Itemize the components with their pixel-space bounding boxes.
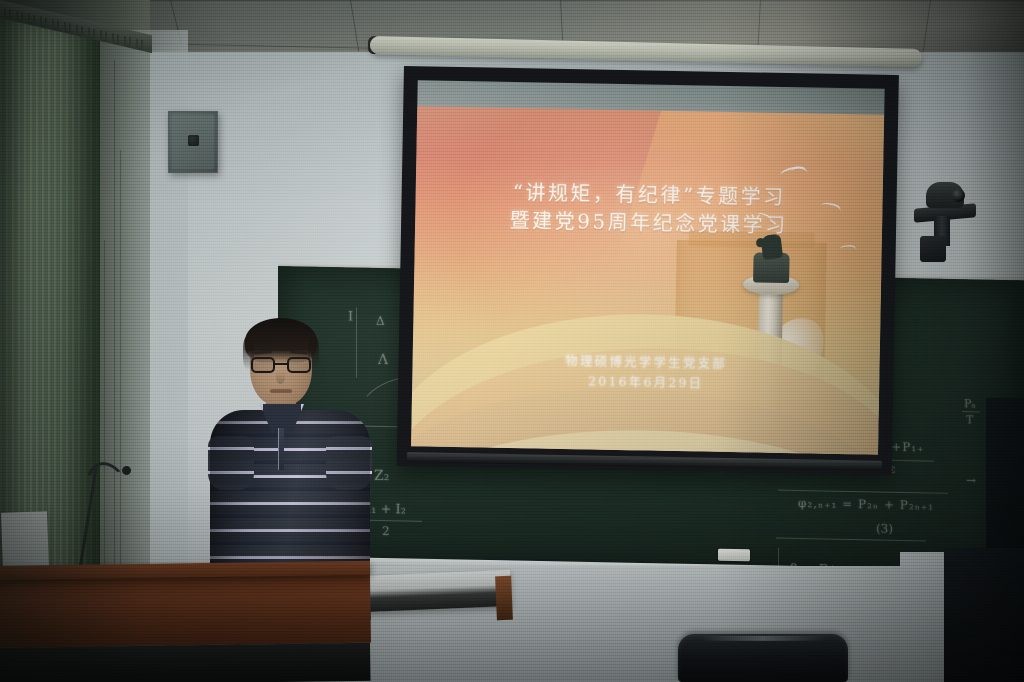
white-paper-object — [1, 511, 49, 573]
right-dark-object — [944, 548, 1024, 682]
wall-cable — [114, 60, 115, 580]
chalk-note: (3) — [876, 521, 893, 535]
podium-shadow — [0, 643, 370, 682]
chalk-note: φ₂,ₙ₊₁ = P₂ₙ + P₂ₙ₊₁ — [798, 496, 934, 513]
nose — [276, 371, 285, 384]
wall-speaker — [168, 111, 218, 173]
chalk-note: Δ — [376, 314, 385, 328]
chalk-note: → — [966, 473, 976, 487]
chalk-note: Pₐ — [964, 397, 976, 410]
chair-highlight — [700, 636, 826, 641]
chalk-note: Z₂ — [374, 468, 389, 484]
equipment-tray — [364, 570, 511, 612]
chalk-note: T — [966, 413, 973, 426]
presentation-slide: “讲规矩，有纪律”专题学习 暨建党95周年纪念党课学习 物理硕博光学学生党支部 … — [411, 106, 884, 455]
camera-head — [926, 182, 964, 208]
presenter — [210, 318, 370, 588]
board-eraser[interactable] — [718, 549, 750, 562]
classroom-photo: I Δ Λ Z₂ I₁ + I₂ 2 φ₁,₂ = ∂P₁₊₂+P₁₊ λ· ε… — [0, 0, 1024, 682]
speaker-driver-icon — [188, 135, 199, 146]
screen-surface: “讲规矩，有纪律”专题学习 暨建党95周年纪念党课学习 物理硕博光学学生党支部 … — [411, 80, 885, 454]
wall-cable — [120, 150, 121, 580]
microphone-capsule — [122, 466, 131, 475]
chalk-note: Λ — [378, 352, 388, 368]
camera-lens-icon — [952, 189, 965, 202]
dove-icon — [840, 245, 856, 252]
equipment-side-panel — [495, 576, 513, 621]
camera-bracket — [920, 236, 946, 262]
shirt-placket — [278, 428, 284, 470]
chalk-note: 2 — [382, 524, 390, 538]
projection-screen: “讲规矩，有纪律”专题学习 暨建党95周年纪念党课学习 物理硕博光学学生党支部 … — [397, 66, 899, 475]
slide-title-block: “讲规矩，有纪律”专题学习 暨建党95周年纪念党课学习 — [415, 178, 883, 242]
chair-backrest — [678, 634, 848, 682]
slide-subtitle-block: 物理硕博光学学生党支部 2016年6月29日 — [412, 348, 880, 397]
podium-body — [0, 571, 371, 648]
wall-cable — [104, 240, 105, 570]
ceiling-camera — [914, 182, 976, 262]
mouth — [270, 389, 292, 393]
hair — [245, 318, 317, 364]
chalk-note: I₁ + I₂ — [366, 502, 406, 518]
